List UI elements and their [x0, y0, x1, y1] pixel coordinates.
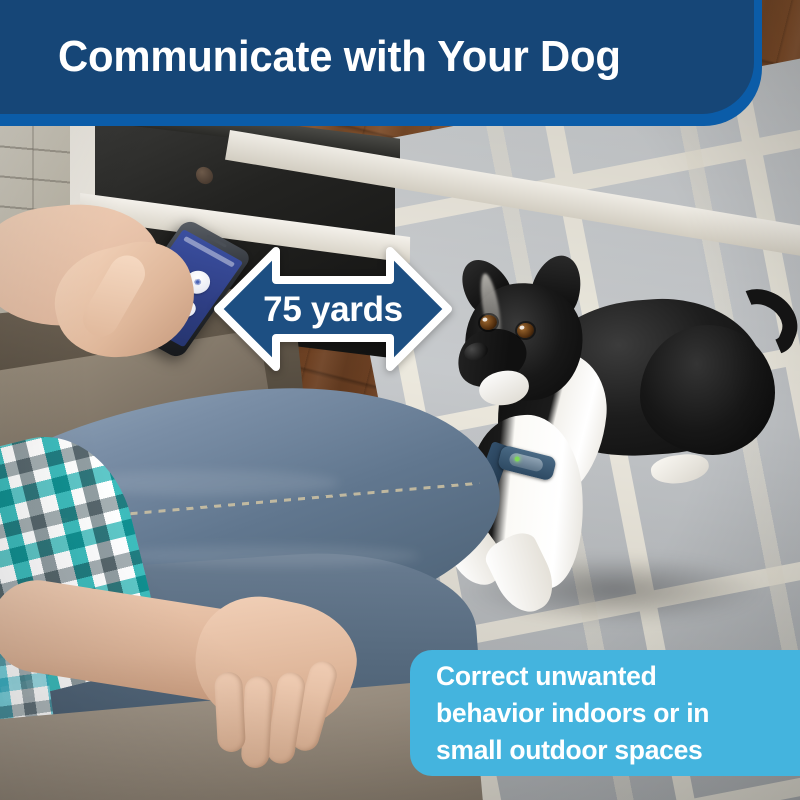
collar-panel	[508, 452, 544, 473]
finger	[241, 675, 274, 768]
jeans-fold	[120, 545, 420, 567]
caption-line-3: small outdoor spaces	[436, 732, 786, 769]
dog-rear-paw	[649, 451, 710, 487]
header-banner: Communicate with Your Dog	[0, 0, 754, 114]
page-title: Communicate with Your Dog	[58, 32, 621, 82]
range-callout: 75 yards	[214, 244, 452, 374]
double-arrow-icon	[214, 244, 452, 374]
finger	[214, 671, 246, 752]
promo-image: ✺ ♫ ✶ Communicate with Your Dog 75 yards…	[0, 0, 800, 800]
dog	[455, 255, 800, 610]
caption-box: Correct unwanted behavior indoors or in …	[410, 650, 800, 776]
caption-line-2: behavior indoors or in	[436, 695, 786, 732]
caption-line-1: Correct unwanted	[436, 658, 786, 695]
